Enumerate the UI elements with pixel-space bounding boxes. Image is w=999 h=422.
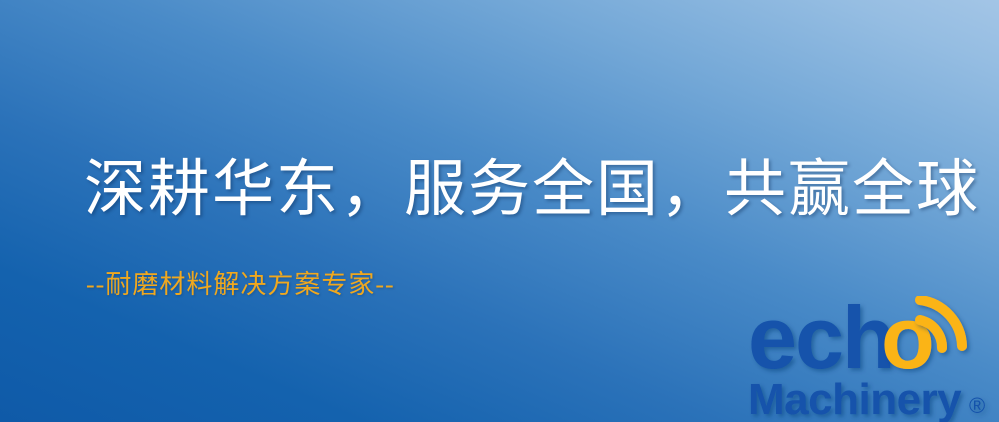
logo-machinery-text: Machinery <box>748 375 962 422</box>
logo-ech-text: ech <box>748 296 894 387</box>
logo-wordmark-ech: ech <box>748 296 894 387</box>
logo-wordmark-o: o <box>881 296 935 387</box>
logo-o-text: o <box>881 296 935 387</box>
banner-headline: 深耕华东，服务全国，共赢全球 <box>84 152 980 228</box>
hero-banner: 深耕华东，服务全国，共赢全球 --耐磨材料解决方案专家-- ech o <box>0 0 999 422</box>
echo-machinery-logo: ech o Machinery ® <box>748 296 999 422</box>
logo-registered-mark: ® <box>969 393 985 418</box>
banner-subtitle: --耐磨材料解决方案专家-- <box>86 268 395 302</box>
logo-subbrand: Machinery ® <box>748 375 985 422</box>
